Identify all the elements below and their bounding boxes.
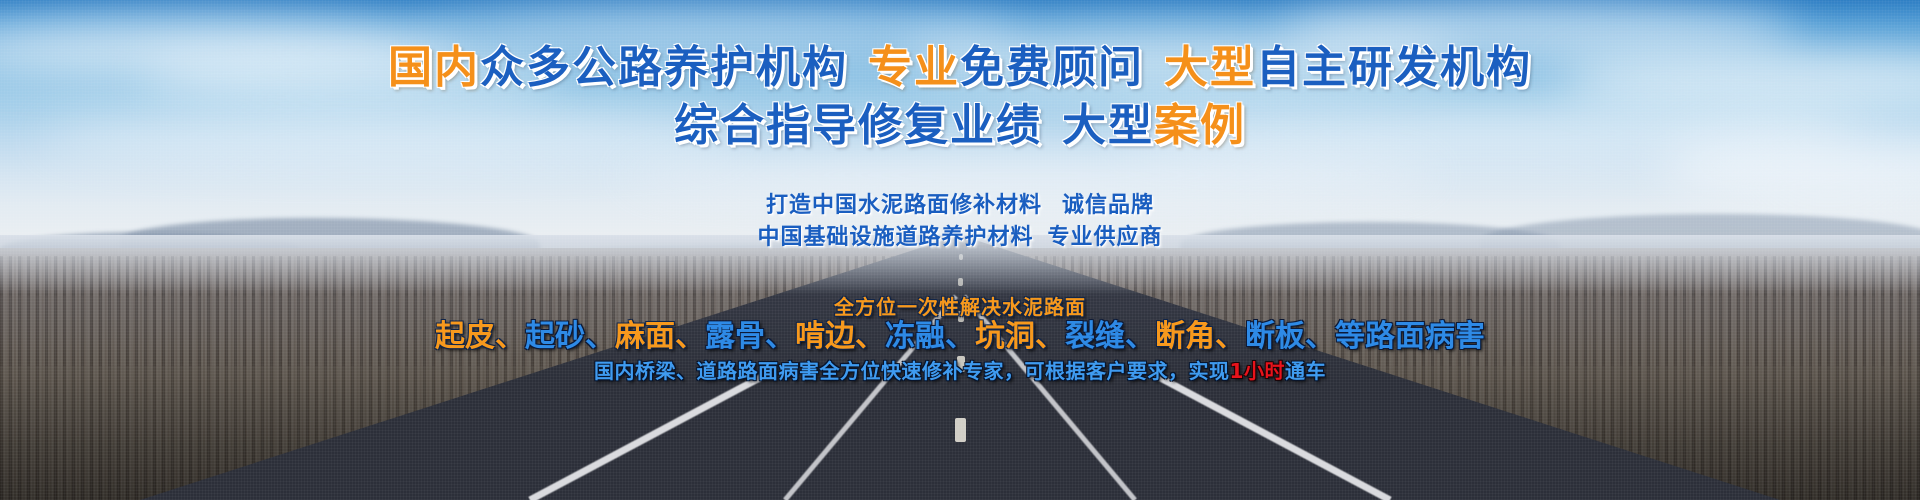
tagline-part-b: 通车: [1285, 359, 1326, 383]
midblock-line2-b: 专业供应商: [1048, 225, 1163, 250]
tagline-part-a: 国内桥梁、道路路面病害全方位快速修补专家，可根据客户要求，实现: [594, 359, 1230, 383]
bottom-tagline-line: 国内桥梁、道路路面病害全方位快速修补专家，可根据客户要求，实现1小时通车: [0, 358, 1920, 384]
defect-separator: 、: [855, 319, 885, 354]
defect-separator: 、: [765, 319, 795, 354]
defect-list-tail: 等路面病害: [1335, 319, 1485, 354]
defect-separator: 、: [945, 319, 975, 354]
midblock-line1-b: 诚信品牌: [1062, 193, 1154, 218]
defect-word: 麻面: [615, 319, 675, 354]
headline1-seg6: 自主研发机构: [1256, 42, 1532, 93]
defect-list: 起皮、起砂、麻面、露骨、啃边、冻融、坑洞、裂缝、断角、断板、: [435, 319, 1335, 354]
midblock-line1-a: 打造中国水泥路面修补材料: [766, 193, 1042, 218]
defect-separator: 、: [1035, 319, 1065, 354]
headline1-seg5: 大型: [1164, 42, 1256, 93]
tagline-highlight: 1小时: [1230, 359, 1285, 383]
headline1-seg2: 众多公路养护机构: [480, 42, 848, 93]
defect-separator: 、: [1215, 319, 1245, 354]
defect-word: 坑洞: [975, 319, 1035, 354]
headline2-seg2: 大型: [1062, 100, 1154, 151]
headline2-seg1: 综合指导修复业绩: [674, 100, 1042, 151]
defect-word: 冻融: [885, 319, 945, 354]
headline-line-1: 国内众多公路养护机构专业免费顾问大型自主研发机构: [0, 42, 1920, 94]
defect-separator: 、: [1305, 319, 1335, 354]
midblock-line2-a: 中国基础设施道路养护材料: [757, 225, 1033, 250]
bottom-lead-text: 全方位一次性解决水泥路面: [834, 295, 1086, 319]
defect-word: 裂缝: [1065, 319, 1125, 354]
promo-banner: 国内众多公路养护机构专业免费顾问大型自主研发机构 综合指导修复业绩大型案例 打造…: [0, 0, 1920, 500]
defect-word: 断板: [1245, 319, 1305, 354]
defect-word: 断角: [1155, 319, 1215, 354]
defect-separator: 、: [1125, 319, 1155, 354]
defect-list-line: 起皮、起砂、麻面、露骨、啃边、冻融、坑洞、裂缝、断角、断板、等路面病害: [0, 318, 1920, 356]
defect-word: 起砂: [525, 319, 585, 354]
headline2-seg3: 案例: [1154, 100, 1246, 151]
defect-word: 啃边: [795, 319, 855, 354]
defect-separator: 、: [675, 319, 705, 354]
headline-line-2: 综合指导修复业绩大型案例: [0, 100, 1920, 152]
headline1-seg4: 免费顾问: [960, 42, 1144, 93]
headline1-seg1: 国内: [388, 42, 480, 93]
midblock-line-1: 打造中国水泥路面修补材料诚信品牌: [0, 192, 1920, 220]
midblock-line-2: 中国基础设施道路养护材料专业供应商: [0, 224, 1920, 252]
defect-word: 露骨: [705, 319, 765, 354]
defect-word: 起皮: [435, 319, 495, 354]
headline1-seg3: 专业: [868, 42, 960, 93]
defect-separator: 、: [495, 319, 525, 354]
banner-content: 国内众多公路养护机构专业免费顾问大型自主研发机构 综合指导修复业绩大型案例 打造…: [0, 0, 1920, 500]
bottom-lead-line: 全方位一次性解决水泥路面: [0, 294, 1920, 320]
defect-separator: 、: [585, 319, 615, 354]
